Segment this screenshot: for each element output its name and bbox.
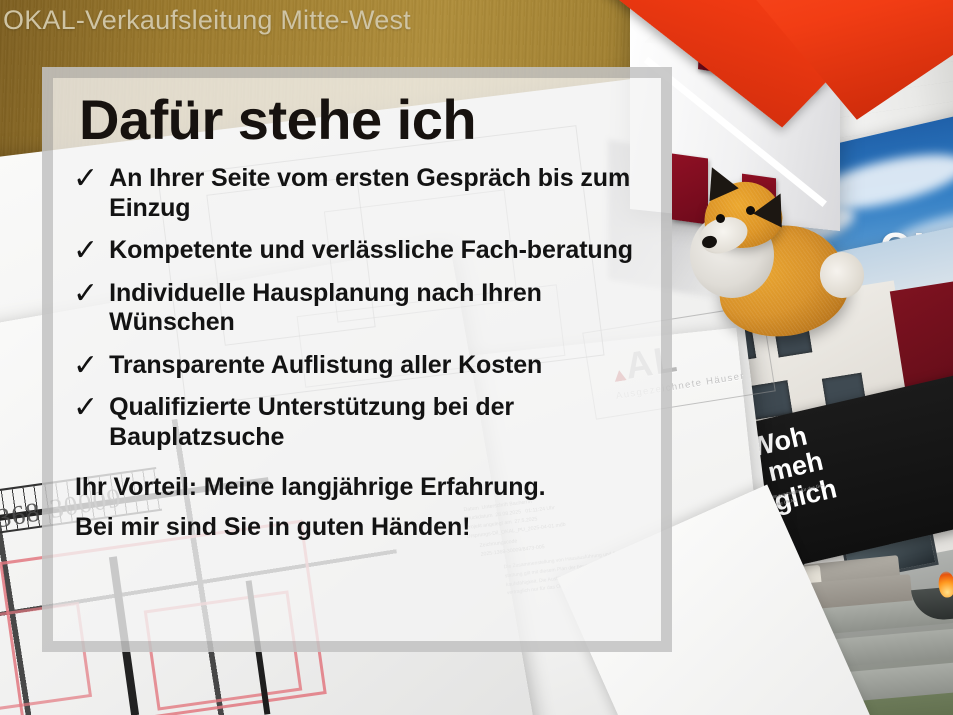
list-item-label: Individuelle Hausplanung nach Ihren Wüns… (109, 279, 643, 338)
check-icon: ✓ (73, 352, 98, 380)
fox-plush-toy (680, 170, 860, 350)
top-title-bar: OKAL-Verkaufsleitung Mitte-West (0, 0, 953, 40)
closing-line-2: Bei mir sind Sie in guten Händen! (75, 512, 643, 542)
check-icon: ✓ (73, 394, 98, 422)
closing-line-1: Ihr Vorteil: Meine langjährige Erfahrung… (75, 472, 643, 502)
closing-statement: Ihr Vorteil: Meine langjährige Erfahrung… (75, 472, 643, 542)
check-icon: ✓ (73, 237, 98, 265)
benefits-list: ✓ An Ihrer Seite vom ersten Gespräch bis… (67, 164, 643, 452)
list-item: ✓ Kompetente und verlässliche Fach-berat… (73, 236, 643, 266)
check-icon: ✓ (73, 280, 98, 308)
fox-eye (716, 214, 725, 223)
list-item-label: An Ihrer Seite vom ersten Gespräch bis z… (109, 164, 643, 223)
page-title: OKAL-Verkaufsleitung Mitte-West (3, 5, 411, 36)
fox-eye (746, 206, 755, 215)
content-panel: Dafür stehe ich ✓ An Ihrer Seite vom ers… (42, 67, 672, 652)
list-item-label: Transparente Auflistung aller Kosten (109, 351, 542, 381)
list-item-label: Kompetente und verlässliche Fach-beratun… (109, 236, 633, 266)
list-item: ✓ Qualifizierte Unterstützung bei der Ba… (73, 393, 643, 452)
list-item: ✓ Transparente Auflistung aller Kosten (73, 351, 643, 381)
list-item: ✓ An Ihrer Seite vom ersten Gespräch bis… (73, 164, 643, 223)
panel-headline: Dafür stehe ich (79, 92, 643, 148)
check-icon: ✓ (73, 165, 98, 193)
list-item: ✓ Individuelle Hausplanung nach Ihren Wü… (73, 279, 643, 338)
list-item-label: Qualifizierte Unterstützung bei der Baup… (109, 393, 643, 452)
slide-canvas: 15.03. – 31.12.2025 OK Ausgezeich MEH (0, 0, 953, 715)
